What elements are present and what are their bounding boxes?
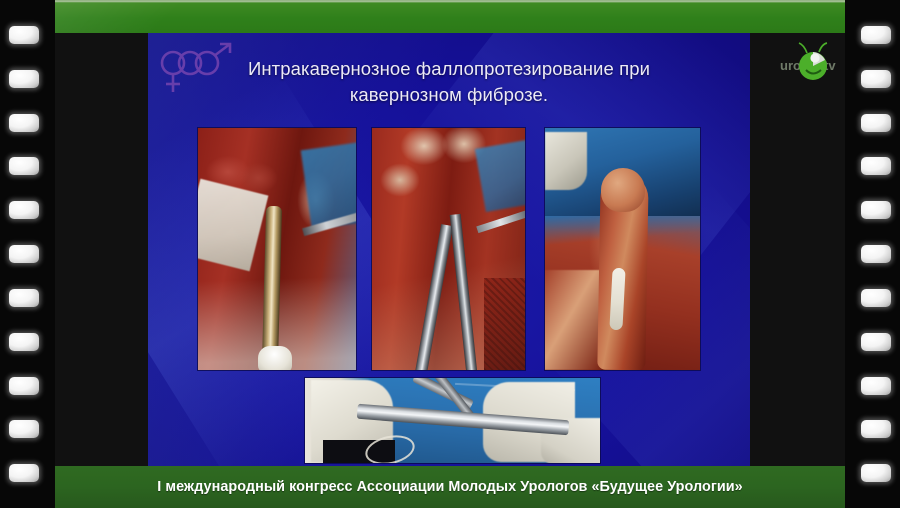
- film-perforation: [861, 377, 891, 395]
- film-perforation: [9, 245, 39, 263]
- surgical-photo-4: [305, 378, 600, 463]
- film-perforation: [861, 464, 891, 482]
- film-perforation: [861, 157, 891, 175]
- film-perforation: [9, 114, 39, 132]
- photo-3-tissue: [545, 270, 601, 370]
- top-bar-sheen: [55, 3, 257, 33]
- film-perforation: [861, 70, 891, 88]
- photo-3-glans: [601, 168, 645, 212]
- surgical-photo-3: [545, 128, 700, 370]
- top-green-bar: [55, 0, 845, 33]
- film-perforation: [861, 26, 891, 44]
- photo-2-tissue-mesh: [484, 278, 525, 370]
- uro-tv-logo-icon: uro tv: [780, 38, 842, 86]
- film-strip-left: [0, 0, 55, 508]
- film-perforation: [861, 420, 891, 438]
- film-perforation: [9, 26, 39, 44]
- surgical-photo-2: [372, 128, 525, 370]
- film-strip-right: [845, 0, 900, 508]
- photo-3-drape-fold: [545, 132, 587, 190]
- photo-1-instrument-tip: [258, 346, 292, 370]
- film-perforation: [9, 289, 39, 307]
- film-perforation: [861, 333, 891, 351]
- film-perforation: [9, 464, 39, 482]
- video-frame: Интракавернозное фаллопротезирование при…: [0, 0, 900, 508]
- presentation-slide: Интракавернозное фаллопротезирование при…: [148, 33, 750, 466]
- film-perforation: [9, 70, 39, 88]
- film-perforation: [9, 377, 39, 395]
- film-perforation: [861, 245, 891, 263]
- film-perforation: [861, 114, 891, 132]
- surgical-photo-1: [198, 128, 356, 370]
- film-perforation: [9, 333, 39, 351]
- bottom-banner: I международный конгресс Ассоциации Моло…: [55, 466, 845, 508]
- film-perforation: [861, 289, 891, 307]
- banner-text: I международный конгресс Ассоциации Моло…: [157, 479, 742, 495]
- film-perforation: [9, 201, 39, 219]
- film-perforation: [861, 201, 891, 219]
- svg-text:uro: uro: [780, 58, 801, 73]
- film-perforation: [9, 420, 39, 438]
- page-title: Интракавернозное фаллопротезирование при…: [172, 56, 726, 109]
- film-perforation: [9, 157, 39, 175]
